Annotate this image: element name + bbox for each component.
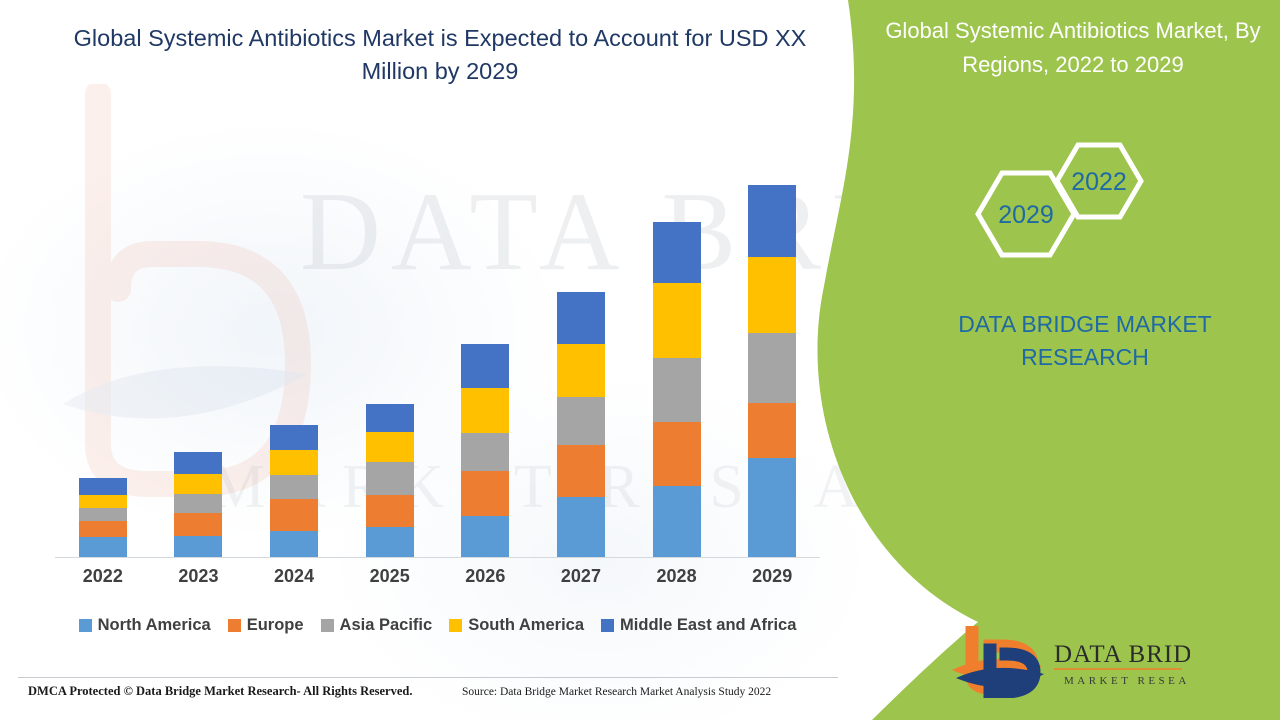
bar-segment[interactable] [366, 432, 414, 462]
legend-item[interactable]: Asia Pacific [321, 616, 433, 635]
legend-item[interactable]: North America [79, 616, 211, 635]
plot-area [55, 140, 820, 558]
bar-segment[interactable] [174, 536, 222, 557]
panel-brand-text: DATA BRIDGE MARKET RESEARCH [920, 308, 1250, 374]
bar-segment[interactable] [174, 474, 222, 494]
hexagon-badges: 2029 2022 [962, 138, 1192, 278]
bar-slot [438, 140, 534, 557]
bar-segment[interactable] [79, 495, 127, 508]
bar-segment[interactable] [174, 494, 222, 513]
bar-segment[interactable] [748, 185, 796, 257]
legend-item[interactable]: Europe [228, 616, 304, 635]
stacked-bar[interactable] [461, 344, 509, 557]
data-bridge-logo: DATA BRIDGE MARKET RESEARCH [950, 626, 1190, 698]
legend-swatch-icon [601, 619, 614, 632]
logo-primary-text: DATA BRIDGE [1054, 641, 1190, 668]
bar-slot [724, 140, 820, 557]
bar-slot [151, 140, 247, 557]
stacked-bar[interactable] [366, 404, 414, 557]
chart-title: Global Systemic Antibiotics Market is Ex… [60, 22, 820, 88]
bar-segment[interactable] [461, 516, 509, 557]
footer-source: Source: Data Bridge Market Research Mark… [462, 686, 771, 698]
x-axis-label: 2026 [438, 566, 534, 587]
x-axis-label: 2024 [246, 566, 342, 587]
bar-segment[interactable] [366, 527, 414, 557]
hexagon-2022-label: 2022 [1071, 168, 1127, 196]
footer-copyright: DMCA Protected © Data Bridge Market Rese… [28, 684, 413, 699]
bar-segment[interactable] [748, 403, 796, 458]
hexagon-2029-label: 2029 [998, 201, 1054, 229]
stacked-bar[interactable] [79, 478, 127, 557]
bar-segment[interactable] [270, 531, 318, 557]
bar-segment[interactable] [270, 475, 318, 499]
legend-label: North America [98, 616, 211, 635]
bar-segment[interactable] [270, 499, 318, 531]
legend-label: South America [468, 616, 584, 635]
bar-segment[interactable] [366, 404, 414, 432]
x-axis-labels: 20222023202420252026202720282029 [55, 566, 820, 587]
bar-segment[interactable] [653, 422, 701, 486]
bar-segment[interactable] [79, 521, 127, 537]
bar-segment[interactable] [366, 462, 414, 495]
bar-segment[interactable] [79, 537, 127, 557]
bar-segment[interactable] [748, 458, 796, 557]
legend-swatch-icon [449, 619, 462, 632]
panel-title: Global Systemic Antibiotics Market, By R… [878, 14, 1268, 82]
x-axis-label: 2025 [342, 566, 438, 587]
legend-label: Asia Pacific [340, 616, 433, 635]
bar-segment[interactable] [79, 508, 127, 521]
legend-item[interactable]: Middle East and Africa [601, 616, 796, 635]
legend-label: Europe [247, 616, 304, 635]
stacked-bar[interactable] [653, 222, 701, 557]
legend-swatch-icon [321, 619, 334, 632]
logo-secondary-text: MARKET RESEARCH [1064, 675, 1190, 687]
bar-segment[interactable] [366, 495, 414, 527]
legend-item[interactable]: South America [449, 616, 584, 635]
bar-group [55, 140, 820, 557]
bar-slot [629, 140, 725, 557]
stacked-bar[interactable] [748, 185, 796, 557]
bar-segment[interactable] [653, 486, 701, 557]
bar-segment[interactable] [748, 333, 796, 403]
bar-segment[interactable] [461, 388, 509, 433]
stacked-bar[interactable] [174, 452, 222, 557]
bar-segment[interactable] [557, 397, 605, 445]
stacked-bar[interactable] [270, 425, 318, 557]
bar-segment[interactable] [270, 425, 318, 450]
stacked-bar[interactable] [557, 292, 605, 557]
bar-segment[interactable] [174, 513, 222, 536]
bar-segment[interactable] [557, 292, 605, 344]
bar-segment[interactable] [461, 344, 509, 388]
bar-segment[interactable] [653, 222, 701, 283]
infographic-page: DATA BRIDGE MARKET RESEARCH Global Syste… [0, 0, 1280, 720]
x-axis-label: 2028 [629, 566, 725, 587]
x-axis-label: 2022 [55, 566, 151, 587]
bar-segment[interactable] [557, 445, 605, 497]
bar-segment[interactable] [557, 497, 605, 557]
x-axis-label: 2029 [724, 566, 820, 587]
bar-segment[interactable] [653, 283, 701, 358]
x-axis-label: 2023 [151, 566, 247, 587]
bar-segment[interactable] [557, 344, 605, 397]
bar-slot [55, 140, 151, 557]
panel-content: Global Systemic Antibiotics Market, By R… [810, 0, 1280, 720]
x-axis-line [55, 557, 820, 558]
x-axis-label: 2027 [533, 566, 629, 587]
bar-segment[interactable] [461, 433, 509, 471]
legend-swatch-icon [228, 619, 241, 632]
bar-slot [342, 140, 438, 557]
footer-divider [18, 677, 838, 678]
bar-segment[interactable] [270, 450, 318, 475]
legend-swatch-icon [79, 619, 92, 632]
bar-segment[interactable] [748, 257, 796, 333]
chart-legend: North AmericaEuropeAsia PacificSouth Ame… [55, 616, 820, 635]
bar-slot [533, 140, 629, 557]
bar-segment[interactable] [174, 452, 222, 474]
bar-segment[interactable] [79, 478, 127, 495]
bar-slot [246, 140, 342, 557]
bar-segment[interactable] [653, 358, 701, 422]
bar-segment[interactable] [461, 471, 509, 516]
legend-label: Middle East and Africa [620, 616, 796, 635]
